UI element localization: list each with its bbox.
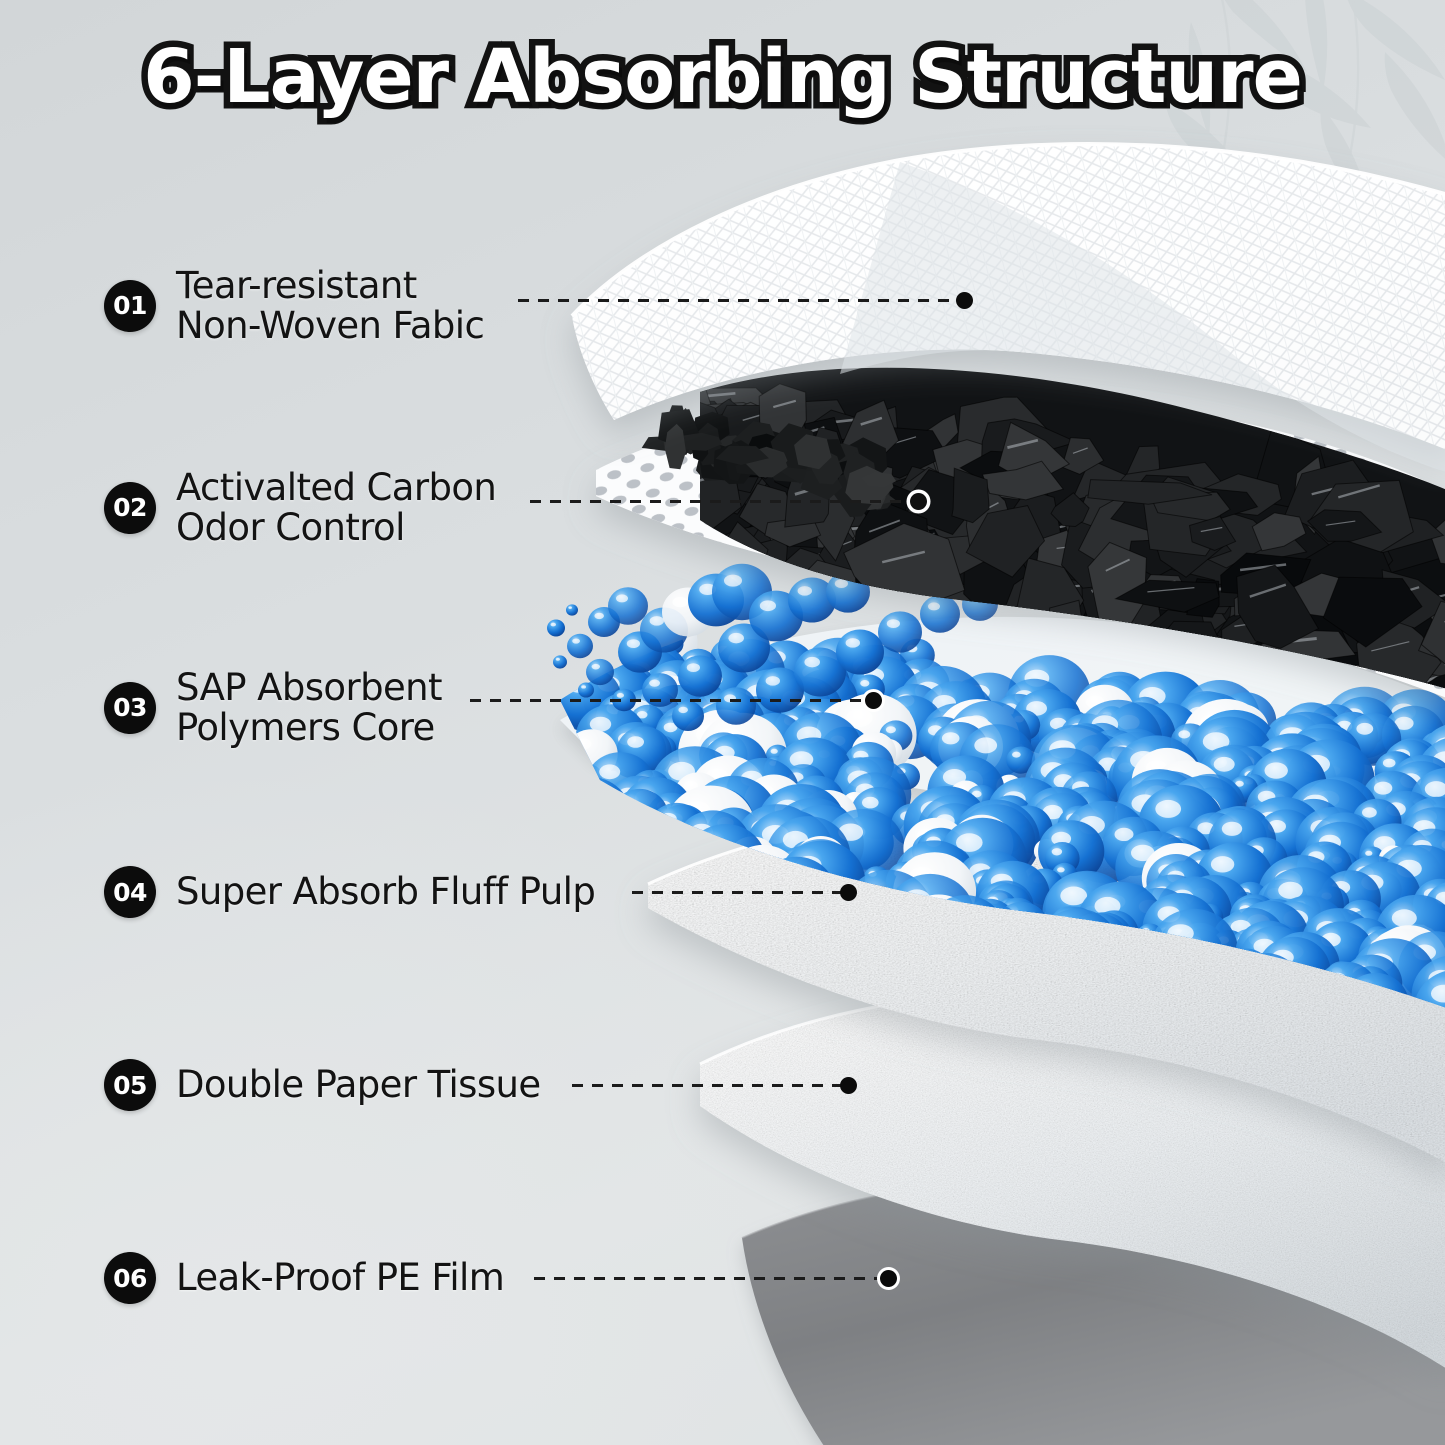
leader-dot-01	[956, 292, 973, 309]
callout-05[interactable]: 05 Double Paper Tissue	[104, 1059, 541, 1111]
page-title: 6-Layer Absorbing Structure	[143, 34, 1302, 120]
leader-dot-04	[840, 884, 857, 901]
layer-label-06: Leak-Proof PE Film	[176, 1258, 504, 1298]
leader-line-06	[534, 1277, 882, 1280]
layer-label-01-line1: Tear-resistant	[176, 264, 417, 307]
leader-line-03	[470, 699, 867, 702]
layer-label-02: Activalted Carbon Odor Control	[176, 468, 496, 547]
leader-dot-05	[840, 1077, 857, 1094]
callout-03[interactable]: 03 SAP Absorbent Polymers Core	[104, 668, 442, 747]
title-container: 6-Layer Absorbing Structure	[0, 34, 1445, 120]
infographic-canvas: 6-Layer Absorbing Structure 01 Tear-resi…	[0, 0, 1445, 1445]
layer-label-06-line1: Leak-Proof PE Film	[176, 1256, 504, 1299]
layer-label-01-line2: Non-Woven Fabic	[176, 306, 484, 346]
layer-number-badge-04: 04	[104, 866, 156, 918]
layer-label-01: Tear-resistant Non-Woven Fabic	[176, 266, 484, 345]
callout-06[interactable]: 06 Leak-Proof PE Film	[104, 1252, 504, 1304]
layer-label-04-line1: Super Absorb Fluff Pulp	[176, 870, 595, 913]
callout-04[interactable]: 04 Super Absorb Fluff Pulp	[104, 866, 595, 918]
callout-02[interactable]: 02 Activalted Carbon Odor Control	[104, 468, 496, 547]
layer-number-badge-01: 01	[104, 280, 156, 332]
leader-dot-03	[865, 692, 882, 709]
leader-line-01	[518, 299, 958, 302]
layer-label-03: SAP Absorbent Polymers Core	[176, 668, 442, 747]
callout-01[interactable]: 01 Tear-resistant Non-Woven Fabic	[104, 266, 484, 345]
layer-label-02-line2: Odor Control	[176, 508, 496, 548]
layer-label-04: Super Absorb Fluff Pulp	[176, 872, 595, 912]
leader-line-05	[572, 1084, 842, 1087]
leader-dot-02	[910, 493, 927, 510]
layer-number-badge-05: 05	[104, 1059, 156, 1111]
leader-dot-06	[880, 1270, 897, 1287]
layer-label-03-line1: SAP Absorbent	[176, 666, 442, 709]
layer-number-badge-02: 02	[104, 482, 156, 534]
layer-number-badge-03: 03	[104, 682, 156, 734]
layer-number-badge-06: 06	[104, 1252, 156, 1304]
layer-label-05: Double Paper Tissue	[176, 1065, 541, 1105]
leader-line-04	[632, 891, 842, 894]
layer-label-05-line1: Double Paper Tissue	[176, 1063, 541, 1106]
leader-line-02	[530, 500, 912, 503]
layer-label-02-line1: Activalted Carbon	[176, 466, 496, 509]
layer-label-03-line2: Polymers Core	[176, 708, 442, 748]
